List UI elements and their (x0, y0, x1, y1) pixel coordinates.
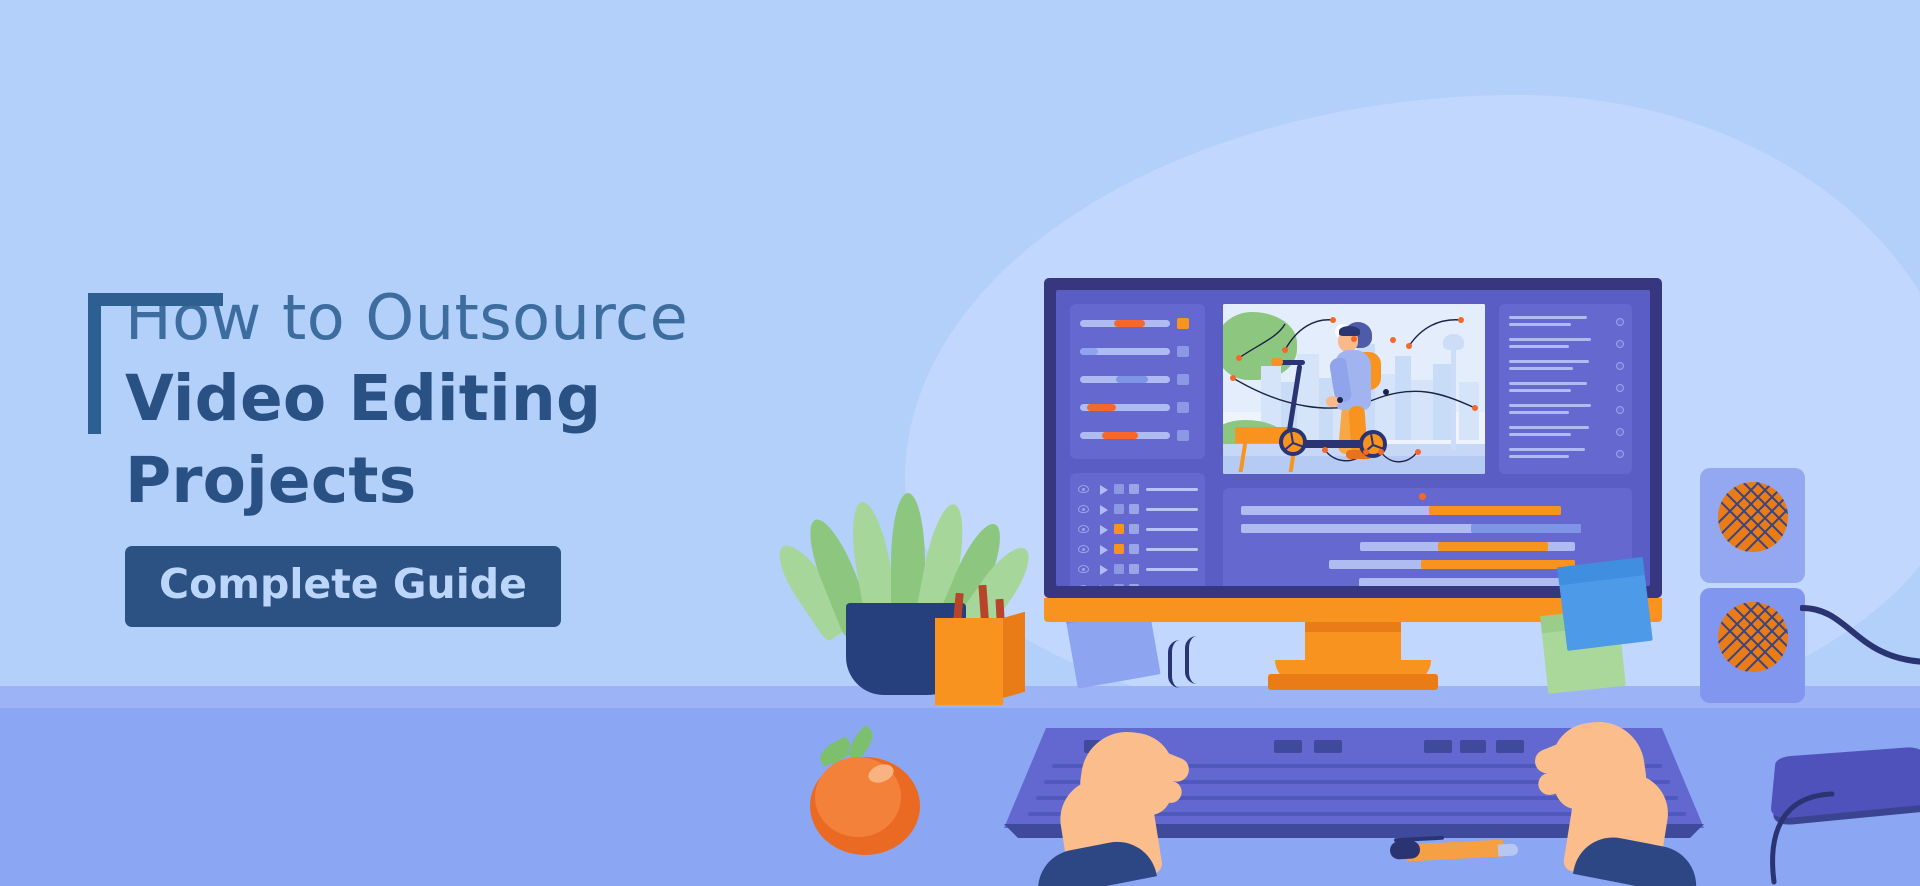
pen-tip (1498, 843, 1519, 856)
layer-name-placeholder (1146, 568, 1198, 571)
timeline-clip[interactable] (1360, 542, 1575, 551)
keyframe-node[interactable] (1472, 405, 1478, 411)
keyframe-node[interactable] (1230, 375, 1236, 381)
layers-panel[interactable] (1070, 473, 1205, 586)
list-item-status-dot[interactable] (1616, 428, 1624, 436)
timeline-segment[interactable] (1438, 542, 1548, 551)
pen-body (1406, 839, 1505, 861)
list-item-subtitle (1509, 345, 1569, 348)
keyframe-node[interactable] (1458, 317, 1464, 323)
slider-fill (1102, 432, 1138, 439)
timeline-playhead[interactable] (1419, 493, 1426, 500)
sticky-note-blue (1557, 557, 1653, 651)
slider-fill (1116, 376, 1148, 383)
keyframe-node[interactable] (1337, 397, 1343, 403)
list-item-title (1509, 426, 1589, 429)
list-item-title (1509, 360, 1589, 363)
steam-squiggle (1168, 640, 1182, 688)
monitor-stand-neck-shadow (1305, 622, 1401, 632)
play-icon[interactable] (1100, 505, 1108, 515)
list-item-status-dot[interactable] (1616, 362, 1624, 370)
slider-swatch[interactable] (1177, 318, 1189, 329)
keyframe-node[interactable] (1330, 317, 1336, 323)
monitor (1044, 278, 1662, 598)
pen-cap (1390, 840, 1421, 860)
slider-row[interactable] (1080, 318, 1195, 329)
eye-icon[interactable] (1078, 505, 1089, 513)
list-item[interactable] (1509, 338, 1624, 356)
play-icon[interactable] (1100, 545, 1108, 555)
pencil-cup-body (935, 618, 1003, 705)
slider-row[interactable] (1080, 402, 1195, 413)
layer-name-placeholder (1146, 548, 1198, 551)
slider-fill (1080, 348, 1098, 355)
monitor-base (1268, 674, 1438, 690)
layer-swatch-a[interactable] (1114, 524, 1124, 534)
keyframe-node[interactable] (1378, 449, 1384, 455)
keyframe-node[interactable] (1351, 336, 1357, 342)
keyframe-node[interactable] (1322, 447, 1328, 453)
keyframe-node[interactable] (1415, 449, 1421, 455)
keyframe-node[interactable] (1390, 337, 1396, 343)
slider-swatch[interactable] (1177, 402, 1189, 413)
list-item-status-dot[interactable] (1616, 406, 1624, 414)
slider-swatch[interactable] (1177, 374, 1189, 385)
play-icon[interactable] (1100, 485, 1108, 495)
slider-fill (1087, 404, 1116, 411)
keyboard-key[interactable] (1274, 740, 1302, 753)
eye-icon[interactable] (1078, 525, 1089, 533)
speaker-bottom (1700, 588, 1805, 703)
video-preview[interactable] (1223, 304, 1485, 474)
list-item-status-dot[interactable] (1616, 384, 1624, 392)
eye-icon[interactable] (1078, 485, 1089, 493)
speaker-top (1700, 468, 1805, 583)
pencil-cup (935, 585, 1025, 705)
layer-row[interactable] (1078, 483, 1198, 495)
layer-row[interactable] (1078, 523, 1198, 535)
list-item[interactable] (1509, 316, 1624, 334)
play-icon[interactable] (1100, 585, 1108, 587)
slider-fill (1114, 320, 1145, 327)
layer-swatch-a[interactable] (1114, 544, 1124, 554)
play-icon[interactable] (1100, 525, 1108, 535)
list-item[interactable] (1509, 360, 1624, 378)
layer-row[interactable] (1078, 503, 1198, 515)
layer-swatch-b[interactable] (1129, 504, 1139, 514)
rider-hair (1339, 326, 1360, 336)
list-item[interactable] (1509, 426, 1624, 444)
list-item-title (1509, 316, 1587, 319)
assets-list-panel[interactable] (1499, 304, 1632, 474)
list-item-subtitle (1509, 455, 1569, 458)
slider-row[interactable] (1080, 374, 1195, 385)
slider-swatch[interactable] (1177, 430, 1189, 441)
steam-squiggle (1185, 636, 1199, 684)
list-item-title (1509, 382, 1587, 385)
speaker-cable (1800, 600, 1920, 710)
keyboard-key[interactable] (1460, 740, 1486, 753)
list-item-status-dot[interactable] (1616, 450, 1624, 458)
monitor-screen[interactable] (1056, 290, 1650, 586)
headline-block: How to Outsource Video Editing Projects … (95, 280, 855, 627)
layer-name-placeholder (1146, 528, 1198, 531)
slider-track[interactable] (1080, 404, 1170, 411)
keyframe-node[interactable] (1406, 343, 1412, 349)
play-icon[interactable] (1100, 565, 1108, 575)
scooter-grip (1271, 358, 1283, 366)
list-item[interactable] (1509, 404, 1624, 422)
list-item-status-dot[interactable] (1616, 318, 1624, 326)
slider-swatch[interactable] (1177, 346, 1189, 357)
eye-icon[interactable] (1078, 585, 1089, 586)
slider-row[interactable] (1080, 346, 1195, 357)
timeline-segment[interactable] (1421, 560, 1575, 569)
keyboard-key[interactable] (1314, 740, 1342, 753)
list-item-subtitle (1509, 433, 1571, 436)
layer-swatch-a[interactable] (1114, 484, 1124, 494)
layer-row[interactable] (1078, 543, 1198, 555)
layer-row[interactable] (1078, 583, 1198, 586)
list-item[interactable] (1509, 382, 1624, 400)
pen-clip (1394, 836, 1444, 843)
layer-swatch-a[interactable] (1114, 584, 1124, 586)
tablet-cable (1740, 786, 1860, 886)
layer-swatch-b[interactable] (1129, 484, 1139, 494)
hero-banner: How to Outsource Video Editing Projects … (0, 0, 1920, 886)
layer-swatch-b[interactable] (1129, 564, 1139, 574)
list-item-title (1509, 404, 1591, 407)
timeline-clip[interactable] (1241, 506, 1561, 515)
list-item-title (1509, 448, 1585, 451)
list-item-subtitle (1509, 323, 1571, 326)
layer-swatch-a[interactable] (1114, 504, 1124, 514)
layer-row[interactable] (1078, 563, 1198, 575)
layer-name-placeholder (1146, 488, 1198, 491)
properties-panel[interactable] (1070, 304, 1205, 459)
speaker-grill-icon (1718, 602, 1788, 672)
slider-track[interactable] (1080, 432, 1170, 439)
eye-icon[interactable] (1078, 545, 1089, 553)
pencil-cup-side (1003, 612, 1025, 698)
slider-track[interactable] (1080, 376, 1170, 383)
list-item[interactable] (1509, 448, 1624, 466)
layer-name-placeholder (1146, 508, 1198, 511)
scooter-wheel-front (1279, 428, 1307, 456)
timeline-clip[interactable] (1359, 578, 1575, 586)
keyframe-node[interactable] (1236, 355, 1242, 361)
list-item-subtitle (1509, 389, 1571, 392)
timeline-segment[interactable] (1429, 506, 1561, 515)
list-item-title (1509, 338, 1591, 341)
keyframe-node[interactable] (1363, 449, 1369, 455)
list-item-subtitle (1509, 411, 1569, 414)
keyboard-key[interactable] (1424, 740, 1452, 753)
layer-swatch-a[interactable] (1114, 564, 1124, 574)
list-item-subtitle (1509, 367, 1573, 370)
list-item-status-dot[interactable] (1616, 340, 1624, 348)
left-hand (1040, 730, 1230, 886)
slider-track[interactable] (1080, 348, 1170, 355)
layer-swatch-b[interactable] (1129, 584, 1139, 586)
eye-icon[interactable] (1078, 565, 1089, 573)
speaker-grill-icon (1718, 482, 1788, 552)
stylus-pen (1390, 836, 1520, 862)
complete-guide-badge[interactable]: Complete Guide (125, 546, 561, 627)
timeline-clip[interactable] (1241, 524, 1581, 533)
slider-track[interactable] (1080, 320, 1170, 327)
timeline-clip[interactable] (1329, 560, 1575, 569)
keyframe-node[interactable] (1282, 347, 1288, 353)
timeline-segment[interactable] (1471, 524, 1581, 533)
layer-swatch-b[interactable] (1129, 544, 1139, 554)
corner-bracket-decoration (88, 293, 223, 434)
keyframe-node[interactable] (1383, 389, 1389, 395)
slider-row[interactable] (1080, 430, 1195, 441)
layer-swatch-b[interactable] (1129, 524, 1139, 534)
orange-fruit (810, 735, 925, 855)
right-hand (1500, 720, 1700, 886)
